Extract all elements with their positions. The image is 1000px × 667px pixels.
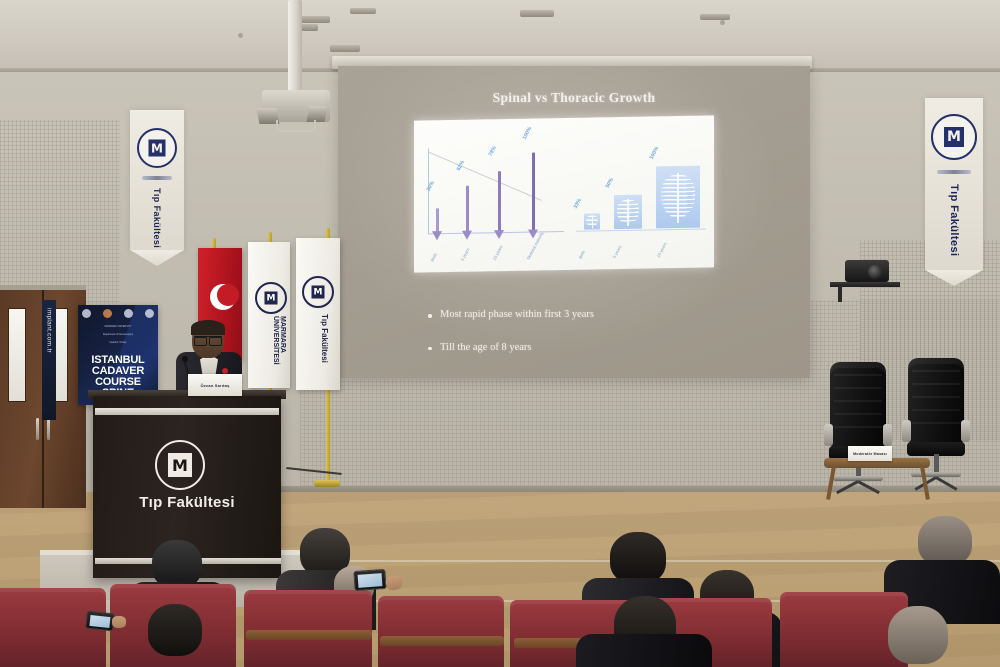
crescent-icon [210,284,236,310]
chart-bar-4 [532,153,535,233]
podium-trim-top [95,408,279,415]
ceiling-vent [300,16,330,23]
chart-tick-1: Birth [430,252,438,262]
seal-monogram-box: M [149,140,166,157]
poster-subline-1: MARMARA UNIVERSITY [84,325,152,329]
audience-head [888,606,948,664]
door-glass-panel [8,308,26,402]
marmara-seal-icon: M [931,114,977,160]
seal-monogram: M [312,286,325,299]
ribcage-xray-medium-icon [614,195,642,229]
chart-tick-3: 10 years [492,245,504,262]
seal-monogram: M [151,142,163,154]
ceiling-vent [350,8,376,14]
chart-value-label-2: 62% [456,160,466,172]
ceiling-vent [520,10,554,17]
door-handle[interactable] [36,418,39,440]
audience-head [148,604,202,656]
projector-bracket [276,120,316,132]
hanging-banner-right: M Tıp Fakültesi [925,98,983,270]
door-handle[interactable] [47,418,50,440]
ribcage-xray-small-icon [584,213,600,229]
chair-armrest [961,420,970,442]
chair-armrest [902,420,911,442]
rib-spine [677,173,679,223]
projection-screen: Spinal vs Thoracic Growth 30% 62% 78% 10… [338,66,810,378]
lecture-hall-photo: Spinal vs Thoracic Growth 30% 62% 78% 10… [0,0,1000,667]
flag-base [314,480,340,487]
hand [112,616,126,628]
sponsor-banner-text: implant.com.tr [46,308,53,353]
camera-lens-icon [868,265,882,279]
slide-bullet-1: Most rapid phase within first 3 years [426,310,756,321]
seat-writing-tablet [380,636,504,646]
eyeglasses-icon [194,336,222,344]
poster-sponsor-logos [82,309,154,318]
chair-backrest [830,362,886,448]
sponsor-logo-icon [145,309,154,318]
phone-screen [358,573,383,588]
chart-trend-line [428,151,542,200]
moderator-namecard: Moderatör Masası [848,446,892,461]
rib-spine [627,199,628,226]
rib-spine [592,215,593,228]
chart2-value-label-1: 33% [573,198,583,210]
banner-divider [937,170,971,174]
sponsor-logo-icon [124,309,133,318]
wall-texture-left [0,120,120,310]
podium-label: Tıp Fakültesi [93,494,281,511]
auditorium-seat[interactable] [244,590,372,667]
marmara-flag-label-1: MARMARA ÜNİVERSİTESİ [272,316,286,388]
speaker-nameplate-text: Özcan Sarıtaş [200,383,229,388]
ceiling-vent [330,45,360,52]
hanging-banner-left: M Tıp Fakültesi [130,110,184,250]
chair-armrest [883,424,892,446]
chart2-tick-3: 10 years [656,242,668,259]
seal-monogram: M [947,130,961,144]
marmara-flag-label-2: Tıp Fakültesi [320,314,329,363]
chart-tick-2: 5 years [460,247,471,262]
slide-bullets: Most rapid phase within first 3 years Ti… [426,310,756,375]
marmara-seal-icon: M [137,128,177,168]
microphone-icon [182,356,188,362]
speaker-nameplate: Özcan Sarıtaş [188,374,242,396]
chair-armrest [824,424,833,446]
camera-shelf-arm [838,286,842,302]
sponsor-logo-icon [103,309,112,318]
slide-bullet-2: Till the age of 8 years [426,343,756,354]
chart2-value-label-2: 50% [605,177,615,189]
podium-marmara-seal-icon: M [155,440,205,490]
marmara-flag-2: M Tıp Fakültesi [296,238,340,390]
ribcage-xray-large-icon [656,166,700,229]
chart2-value-label-3: 100% [649,146,661,161]
video-camera-icon [845,260,889,282]
seat-writing-tablet [246,630,372,640]
slide-title: Spinal vs Thoracic Growth [338,90,810,106]
moderator-namecard-text: Moderatör Masası [853,452,887,456]
auditorium-seat[interactable] [378,596,504,667]
chart2-tick-2: 5 years [612,245,623,260]
seal-monogram: M [265,292,278,305]
smartphone[interactable] [353,569,386,591]
speaker-hair [191,320,225,335]
poster-subline-3: Istanbul, Turkey [84,341,152,345]
marmara-seal-icon: M [302,276,334,308]
banner-divider [142,176,172,180]
sprinkler-head [238,33,243,38]
audience-torso [576,634,712,667]
chart-panel-thoracic: 33% 50% 100% Birth 5 years 10 years [572,123,710,265]
banner-label-left: Tıp Fakültesi [152,188,162,248]
audience-head [610,532,666,584]
poster-subline-2: Department of Neurosurgery [84,333,152,337]
sponsor-side-banner: implant.com.tr [42,300,56,420]
audience-head [918,516,972,566]
slide-chart: 30% 62% 78% 100% Birth 5 years 10 years … [414,115,714,272]
chair-stem [934,454,939,474]
chart-bar-1 [436,208,439,234]
marmara-seal-icon: M [255,282,287,314]
marmara-flag-1: M MARMARA ÜNİVERSİTESİ [248,242,290,388]
chart-value-label-4: 100% [522,126,534,141]
chair-backrest [908,358,964,444]
sprinkler-head [720,20,725,25]
chart-panel-spinal: 30% 62% 78% 100% Birth 5 years 10 years … [420,126,570,269]
ceiling-vent [700,14,730,20]
chart2-tick-1: Birth [578,250,586,260]
banner-label-right: Tıp Fakültesi [948,184,960,256]
chart-bar-2 [466,186,469,234]
seal-monogram-box: M [944,127,964,147]
audience-head [152,540,202,588]
chart-bar-3 [498,171,501,233]
sponsor-logo-icon [82,309,91,318]
chart-value-label-3: 78% [488,145,498,157]
seal-monogram: M [168,453,192,477]
phone-screen [89,614,110,627]
smartphone[interactable] [85,611,115,632]
